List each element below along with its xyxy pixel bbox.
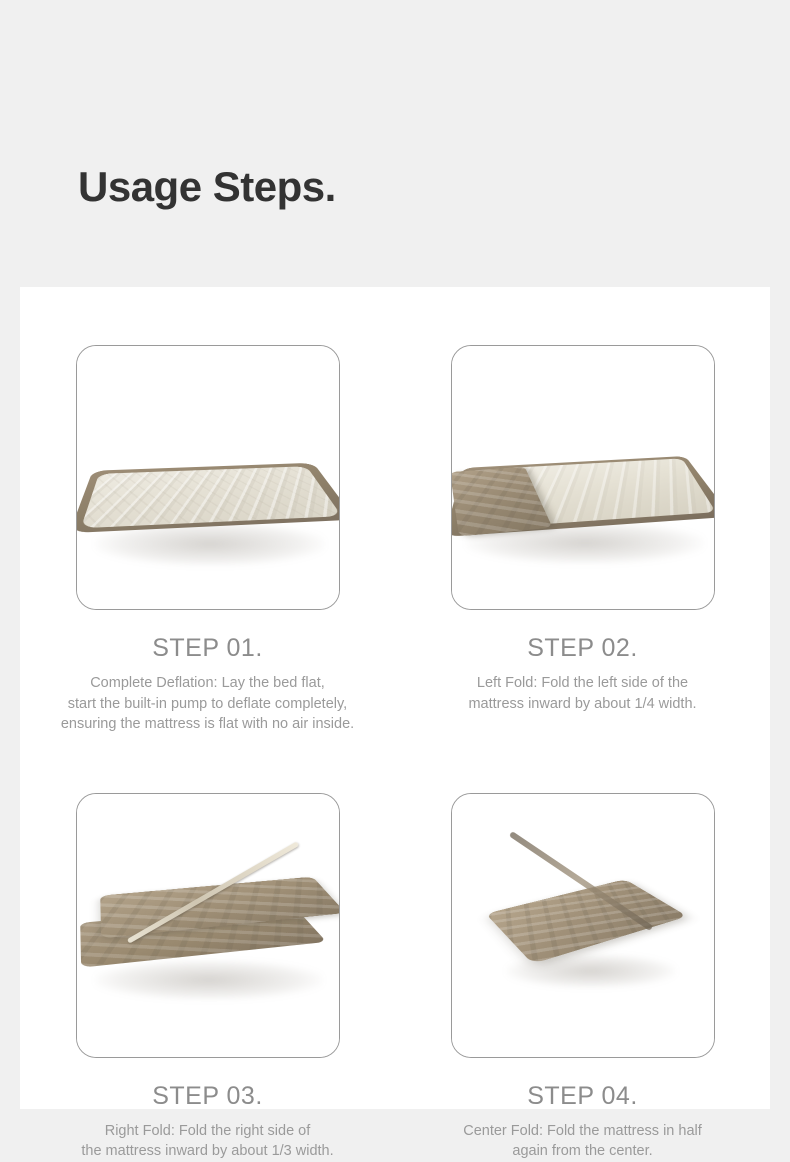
step-description-04: Center Fold: Fold the mattress in half a… bbox=[463, 1121, 702, 1162]
step-cell-01: STEP 01. Complete Deflation: Lay the bed… bbox=[20, 287, 395, 735]
usage-steps-page: Usage Steps. STEP 01. Complete Deflation… bbox=[0, 0, 790, 1109]
steps-card: STEP 01. Complete Deflation: Lay the bed… bbox=[20, 287, 770, 1109]
step-heading-03: STEP 03. bbox=[152, 1084, 263, 1109]
step-heading-02: STEP 02. bbox=[527, 636, 638, 661]
step-desc-line: the mattress inward by about 1/3 width. bbox=[81, 1141, 333, 1162]
mattress-photo-03 bbox=[77, 794, 339, 1057]
mattress-shadow-icon bbox=[95, 960, 323, 1000]
step-description-02: Left Fold: Fold the left side of the mat… bbox=[468, 673, 696, 714]
page-title: Usage Steps. bbox=[78, 166, 336, 208]
step-cell-02: STEP 02. Left Fold: Fold the left side o… bbox=[395, 287, 770, 735]
step-desc-line: start the built-in pump to deflate compl… bbox=[61, 694, 354, 715]
step-desc-line: Center Fold: Fold the mattress in half bbox=[463, 1121, 702, 1142]
mattress-photo-01 bbox=[77, 346, 339, 609]
step-desc-line: mattress inward by about 1/4 width. bbox=[468, 694, 696, 715]
step-desc-line: ensuring the mattress is flat with no ai… bbox=[61, 714, 354, 735]
mattress-photo-04 bbox=[452, 794, 714, 1057]
step-photo-frame-02[interactable] bbox=[451, 345, 715, 610]
step-cell-03: STEP 03. Right Fold: Fold the right side… bbox=[20, 735, 395, 1162]
step-desc-line: Left Fold: Fold the left side of the bbox=[468, 673, 696, 694]
steps-grid: STEP 01. Complete Deflation: Lay the bed… bbox=[20, 287, 770, 1162]
step-photo-frame-04[interactable] bbox=[451, 793, 715, 1058]
step-desc-line: again from the center. bbox=[463, 1141, 702, 1162]
step-heading-04: STEP 04. bbox=[527, 1084, 638, 1109]
step-photo-frame-03[interactable] bbox=[76, 793, 340, 1058]
step-photo-frame-01[interactable] bbox=[76, 345, 340, 610]
step-description-03: Right Fold: Fold the right side of the m… bbox=[81, 1121, 333, 1162]
mattress-photo-02 bbox=[452, 346, 714, 609]
step-desc-line: Right Fold: Fold the right side of bbox=[81, 1121, 333, 1142]
step-desc-line: Complete Deflation: Lay the bed flat, bbox=[61, 673, 354, 694]
step-description-01: Complete Deflation: Lay the bed flat, st… bbox=[61, 673, 354, 735]
mattress-emboss-texture bbox=[485, 879, 687, 964]
step-heading-01: STEP 01. bbox=[152, 636, 263, 661]
step-cell-04: STEP 04. Center Fold: Fold the mattress … bbox=[395, 735, 770, 1162]
